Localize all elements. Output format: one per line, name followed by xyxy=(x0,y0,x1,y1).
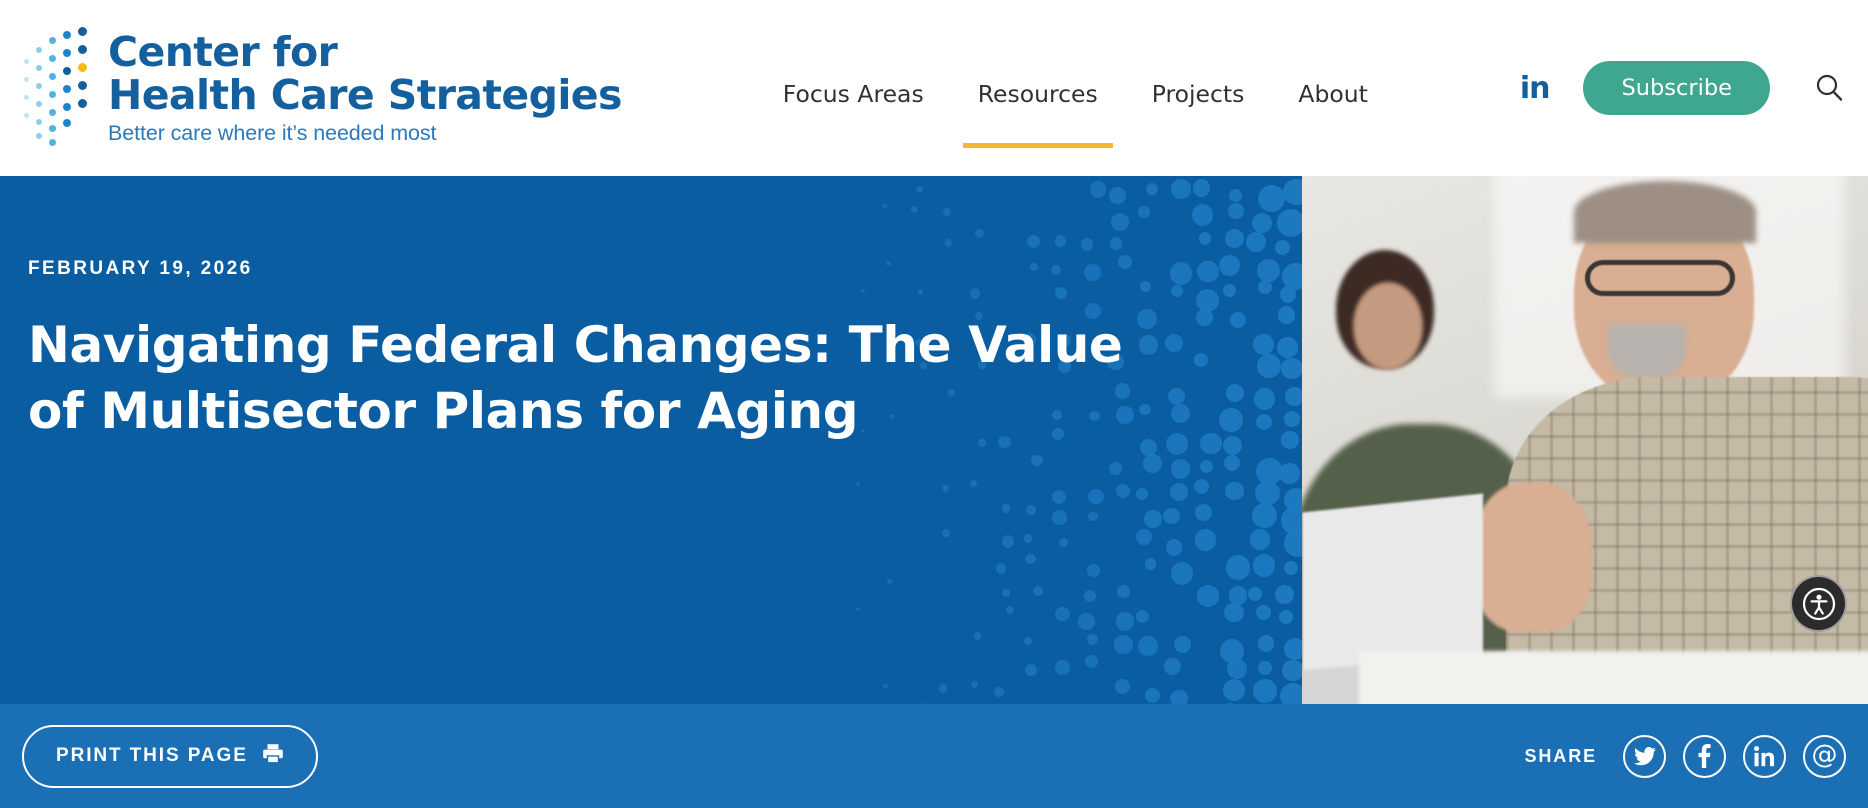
header-utility-area: in Subscribe xyxy=(1520,61,1868,115)
share-label: SHARE xyxy=(1524,746,1597,767)
email-icon[interactable]: @ xyxy=(1803,735,1846,778)
main-navigation: Focus Areas Resources Projects About xyxy=(756,0,1395,176)
photo-person-man-beard xyxy=(1608,324,1686,380)
page-title: Navigating Federal Changes: The Value of… xyxy=(28,313,1148,444)
print-this-page-button[interactable]: PRINT THIS PAGE xyxy=(22,725,318,788)
hero-text-panel: FEBRUARY 19, 2026 Navigating Federal Cha… xyxy=(0,176,1302,704)
linkedin-icon[interactable]: in xyxy=(1520,71,1584,106)
linkedin-icon[interactable] xyxy=(1743,735,1786,778)
facebook-icon[interactable] xyxy=(1683,735,1726,778)
photo-person-man-hair xyxy=(1574,181,1756,243)
nav-label: Focus Areas xyxy=(783,80,924,108)
nav-item-projects[interactable]: Projects xyxy=(1125,12,1272,176)
share-group: SHARE @ xyxy=(1524,735,1846,778)
hero-copy: FEBRUARY 19, 2026 Navigating Federal Cha… xyxy=(0,176,1302,444)
subscribe-button[interactable]: Subscribe xyxy=(1583,61,1770,115)
site-logo[interactable]: Center for Health Care Strategies Better… xyxy=(22,25,622,151)
printer-icon xyxy=(262,743,284,770)
hero-section: FEBRUARY 19, 2026 Navigating Federal Cha… xyxy=(0,176,1868,704)
nav-label: Projects xyxy=(1152,80,1245,108)
logo-wordmark: Center for Health Care Strategies Better… xyxy=(108,32,622,145)
publish-date: FEBRUARY 19, 2026 xyxy=(28,258,1262,280)
photo-person-man-hand xyxy=(1472,482,1592,632)
logo-line-2: Health Care Strategies xyxy=(108,75,622,116)
photo-table xyxy=(1359,651,1868,704)
photo-person-woman-face xyxy=(1353,282,1423,370)
print-button-label: PRINT THIS PAGE xyxy=(56,745,248,767)
nav-item-focus-areas[interactable]: Focus Areas xyxy=(756,12,951,176)
logo-dot-pattern-icon xyxy=(22,25,98,151)
nav-label: Resources xyxy=(978,80,1098,108)
nav-item-about[interactable]: About xyxy=(1271,12,1394,176)
photo-person-man-glasses xyxy=(1585,260,1735,296)
logo-tagline: Better care where it’s needed most xyxy=(108,123,622,145)
nav-active-underline xyxy=(963,143,1113,148)
nav-label: About xyxy=(1298,80,1367,108)
site-header: Center for Health Care Strategies Better… xyxy=(0,0,1868,176)
twitter-icon[interactable] xyxy=(1623,735,1666,778)
nav-item-resources[interactable]: Resources xyxy=(951,12,1125,176)
accessibility-icon[interactable] xyxy=(1790,575,1847,632)
search-icon[interactable] xyxy=(1812,71,1846,105)
page-action-bar: PRINT THIS PAGE SHARE xyxy=(0,704,1868,808)
logo-line-1: Center for xyxy=(108,32,622,73)
hero-image xyxy=(1302,176,1868,704)
